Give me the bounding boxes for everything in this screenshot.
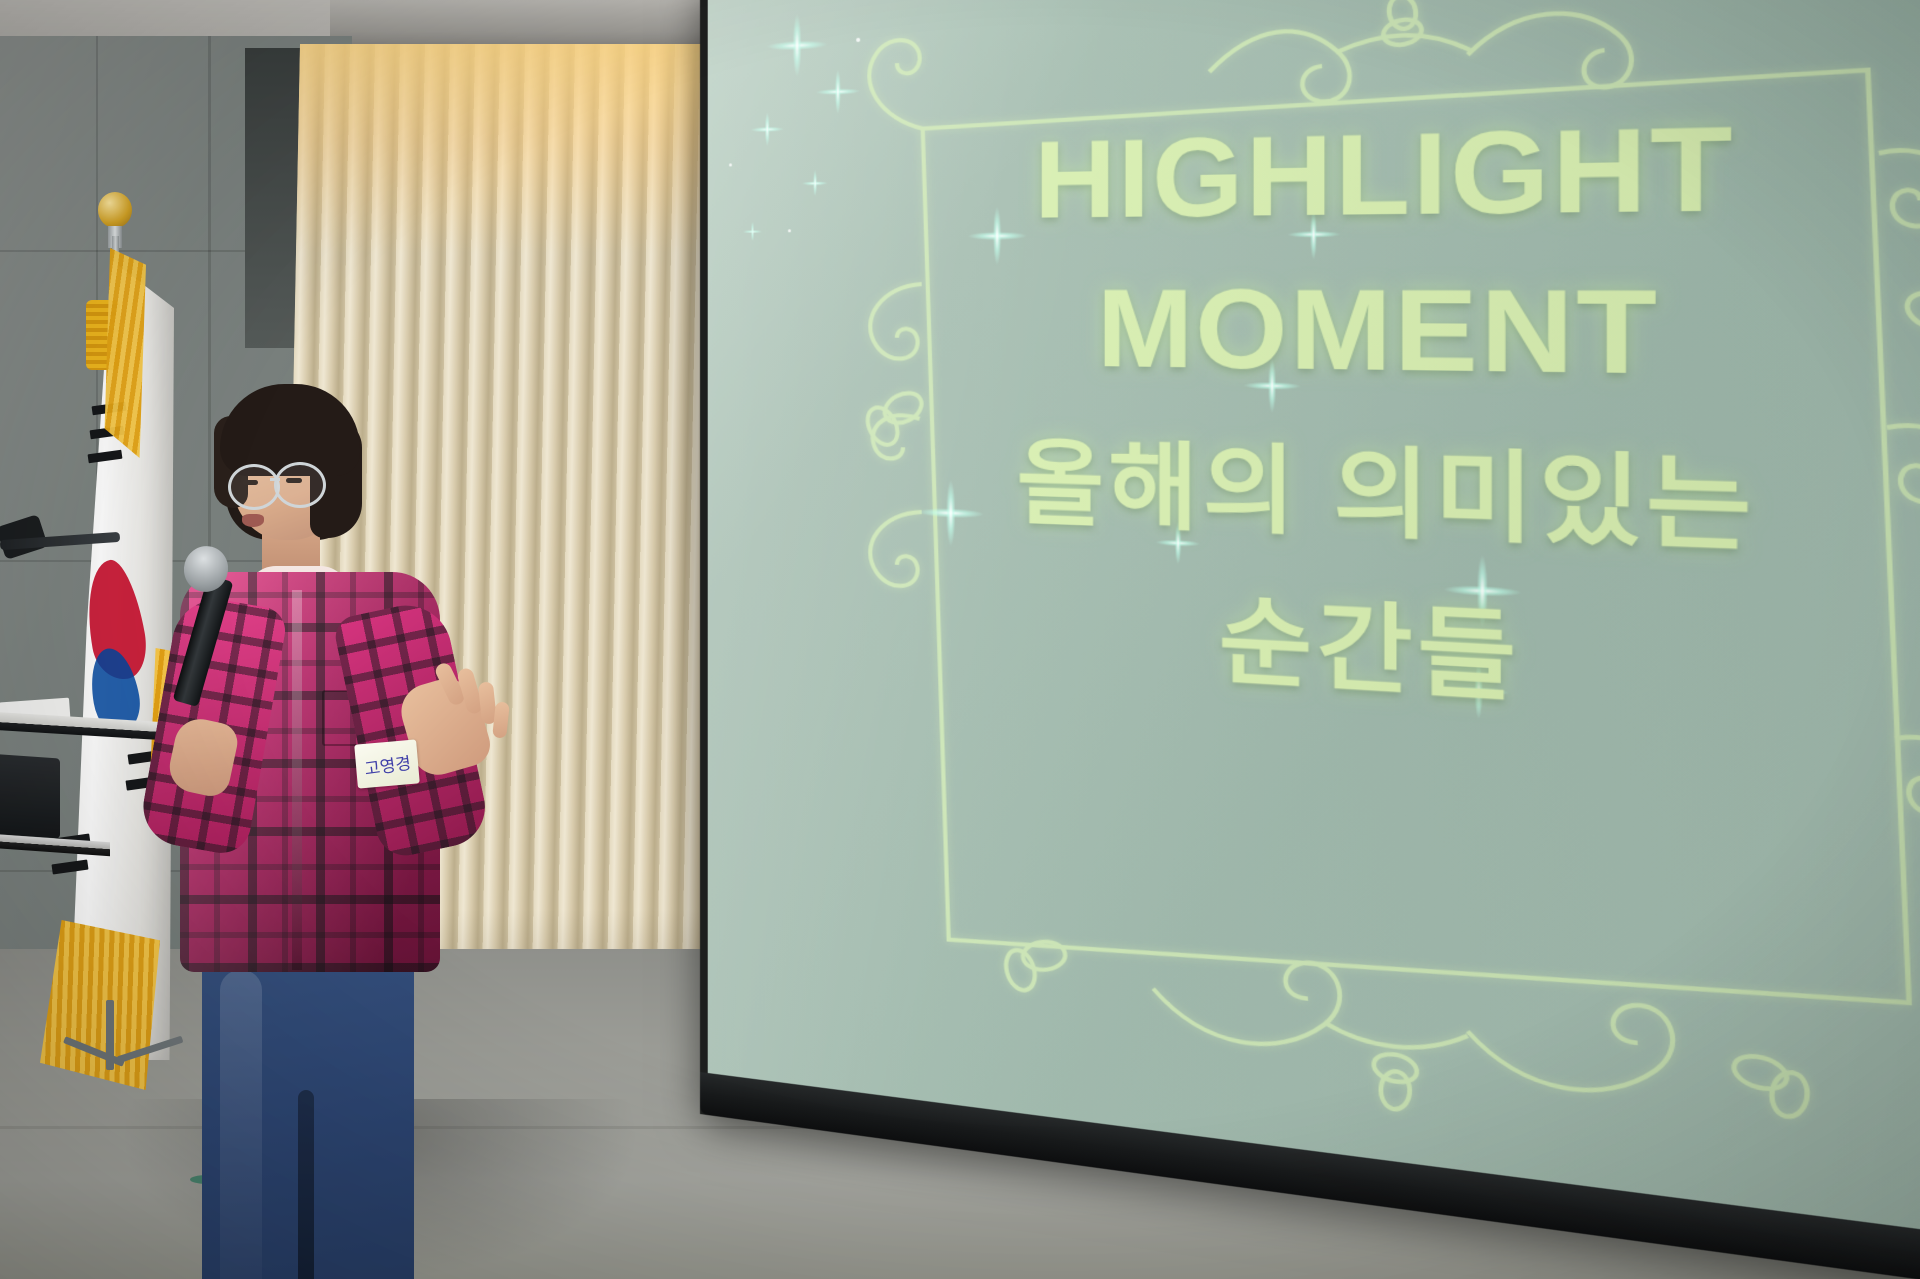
hair-front bbox=[220, 384, 360, 476]
presentation-photo: HIGHLIGHT MOMENT 올해의 의미있는 순간들 bbox=[0, 0, 1920, 1279]
name-badge: 고영경 bbox=[354, 739, 420, 788]
stand-leg bbox=[106, 1000, 114, 1070]
name-badge-text: 고영경 bbox=[362, 748, 412, 779]
stand-leg bbox=[63, 1036, 125, 1066]
eyeglasses-lens-left bbox=[228, 464, 280, 510]
mouth bbox=[242, 514, 264, 527]
flag-finial bbox=[98, 192, 132, 228]
finger bbox=[492, 701, 510, 738]
eyeglasses-bridge bbox=[270, 478, 280, 481]
screen-surface: HIGHLIGHT MOMENT 올해의 의미있는 순간들 bbox=[708, 0, 1920, 1263]
shirt-placket bbox=[292, 590, 302, 970]
eyeglasses-lens-right bbox=[274, 462, 326, 508]
chair bbox=[0, 753, 60, 838]
jeans-leg-gap bbox=[298, 1090, 314, 1279]
projection-screen: HIGHLIGHT MOMENT 올해의 의미있는 순간들 bbox=[700, 0, 1920, 1279]
jeans-highlight bbox=[220, 970, 262, 1279]
presenter: 고영경 bbox=[150, 390, 570, 1279]
screen-sheen bbox=[708, 0, 1920, 1263]
